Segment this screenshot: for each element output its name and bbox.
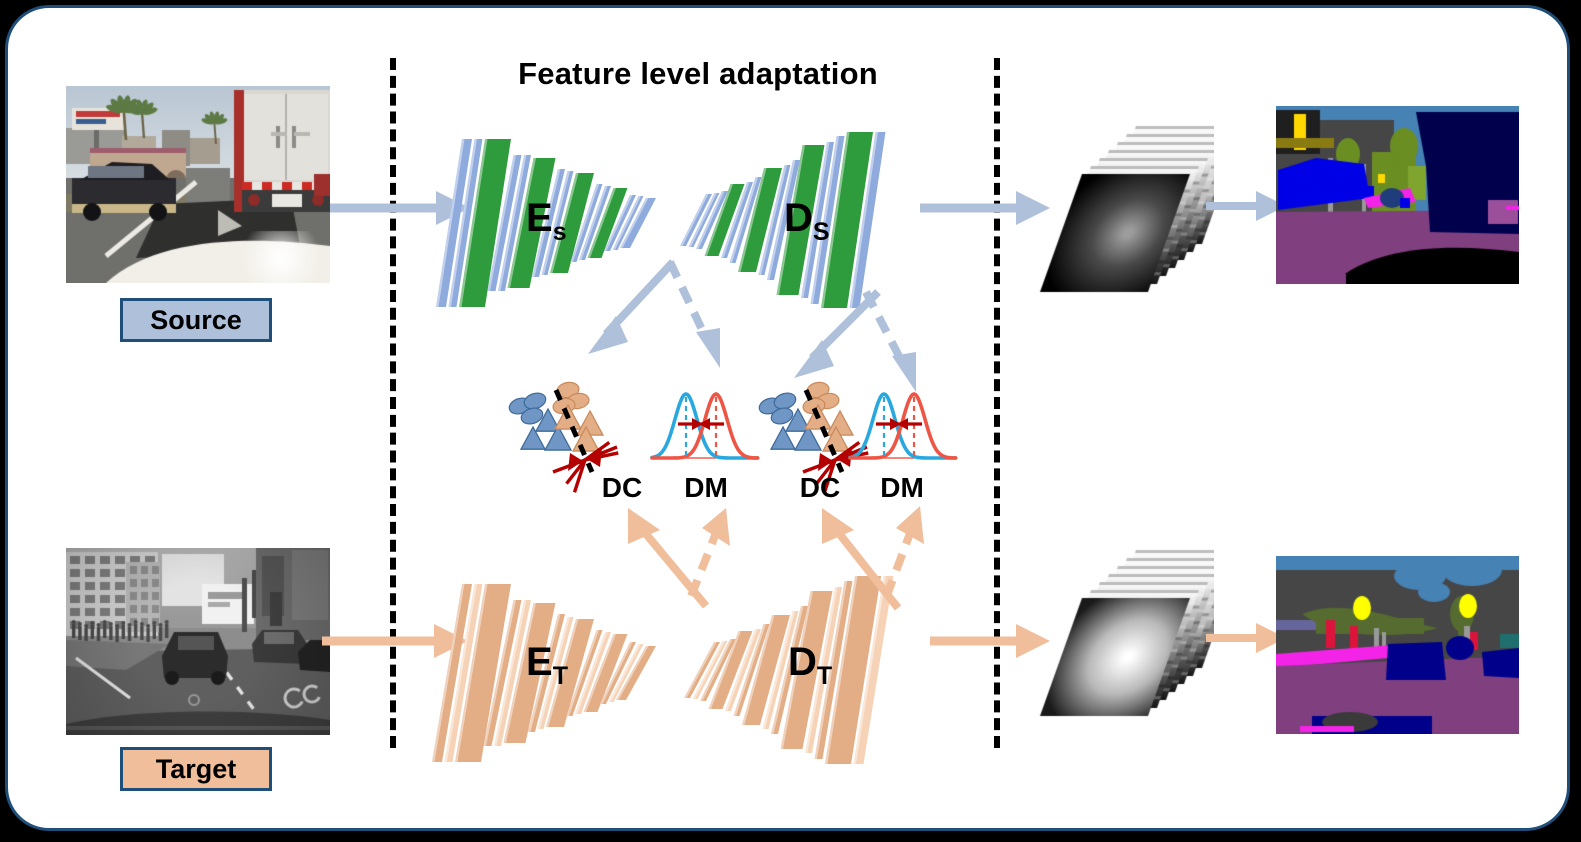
target-decoder-letter: D [788, 640, 817, 684]
page-title: Feature level adaptation [438, 56, 958, 92]
target-encoder-subscript: T [553, 662, 568, 690]
source-input-image [66, 86, 330, 283]
target-decoder-label: DT [788, 640, 832, 691]
target-label: Target [120, 747, 272, 791]
source-label: Source [120, 298, 272, 342]
source-encoder-subscript: s [553, 218, 567, 246]
target-encoder-letter: E [526, 640, 553, 684]
target-encoder-label: ET [526, 640, 568, 691]
dm-decoder-label: DM [866, 472, 938, 504]
target-decoder-to-dm-arrow [866, 506, 986, 616]
source-decoder-label: DS [784, 196, 830, 247]
source-encoder-to-dm-arrow [648, 256, 778, 381]
dc-encoder-illustration [506, 376, 636, 481]
dm-encoder-label: DM [670, 472, 742, 504]
target-decoder-subscript: T [817, 662, 832, 690]
figure-frame: Feature level adaptation Source Target [5, 5, 1570, 831]
source-encoder-label: Es [526, 196, 567, 247]
target-segmentation-map [1276, 556, 1519, 734]
dc-encoder-label: DC [586, 472, 658, 504]
dm-decoder-illustration [852, 378, 962, 473]
dc-decoder-label: DC [784, 472, 856, 504]
source-decoder-letter: D [784, 196, 813, 240]
source-feature-map-stack [1034, 116, 1214, 311]
dm-encoder-illustration [654, 378, 764, 473]
source-encoder-letter: E [526, 196, 553, 240]
target-encoder-to-dm-arrow [668, 508, 788, 618]
target-input-image [66, 548, 330, 735]
source-segmentation-map [1276, 106, 1519, 284]
target-feature-map-stack [1034, 540, 1214, 740]
source-decoder-subscript: S [813, 218, 830, 246]
figure-canvas: Feature level adaptation Source Target [0, 0, 1581, 842]
